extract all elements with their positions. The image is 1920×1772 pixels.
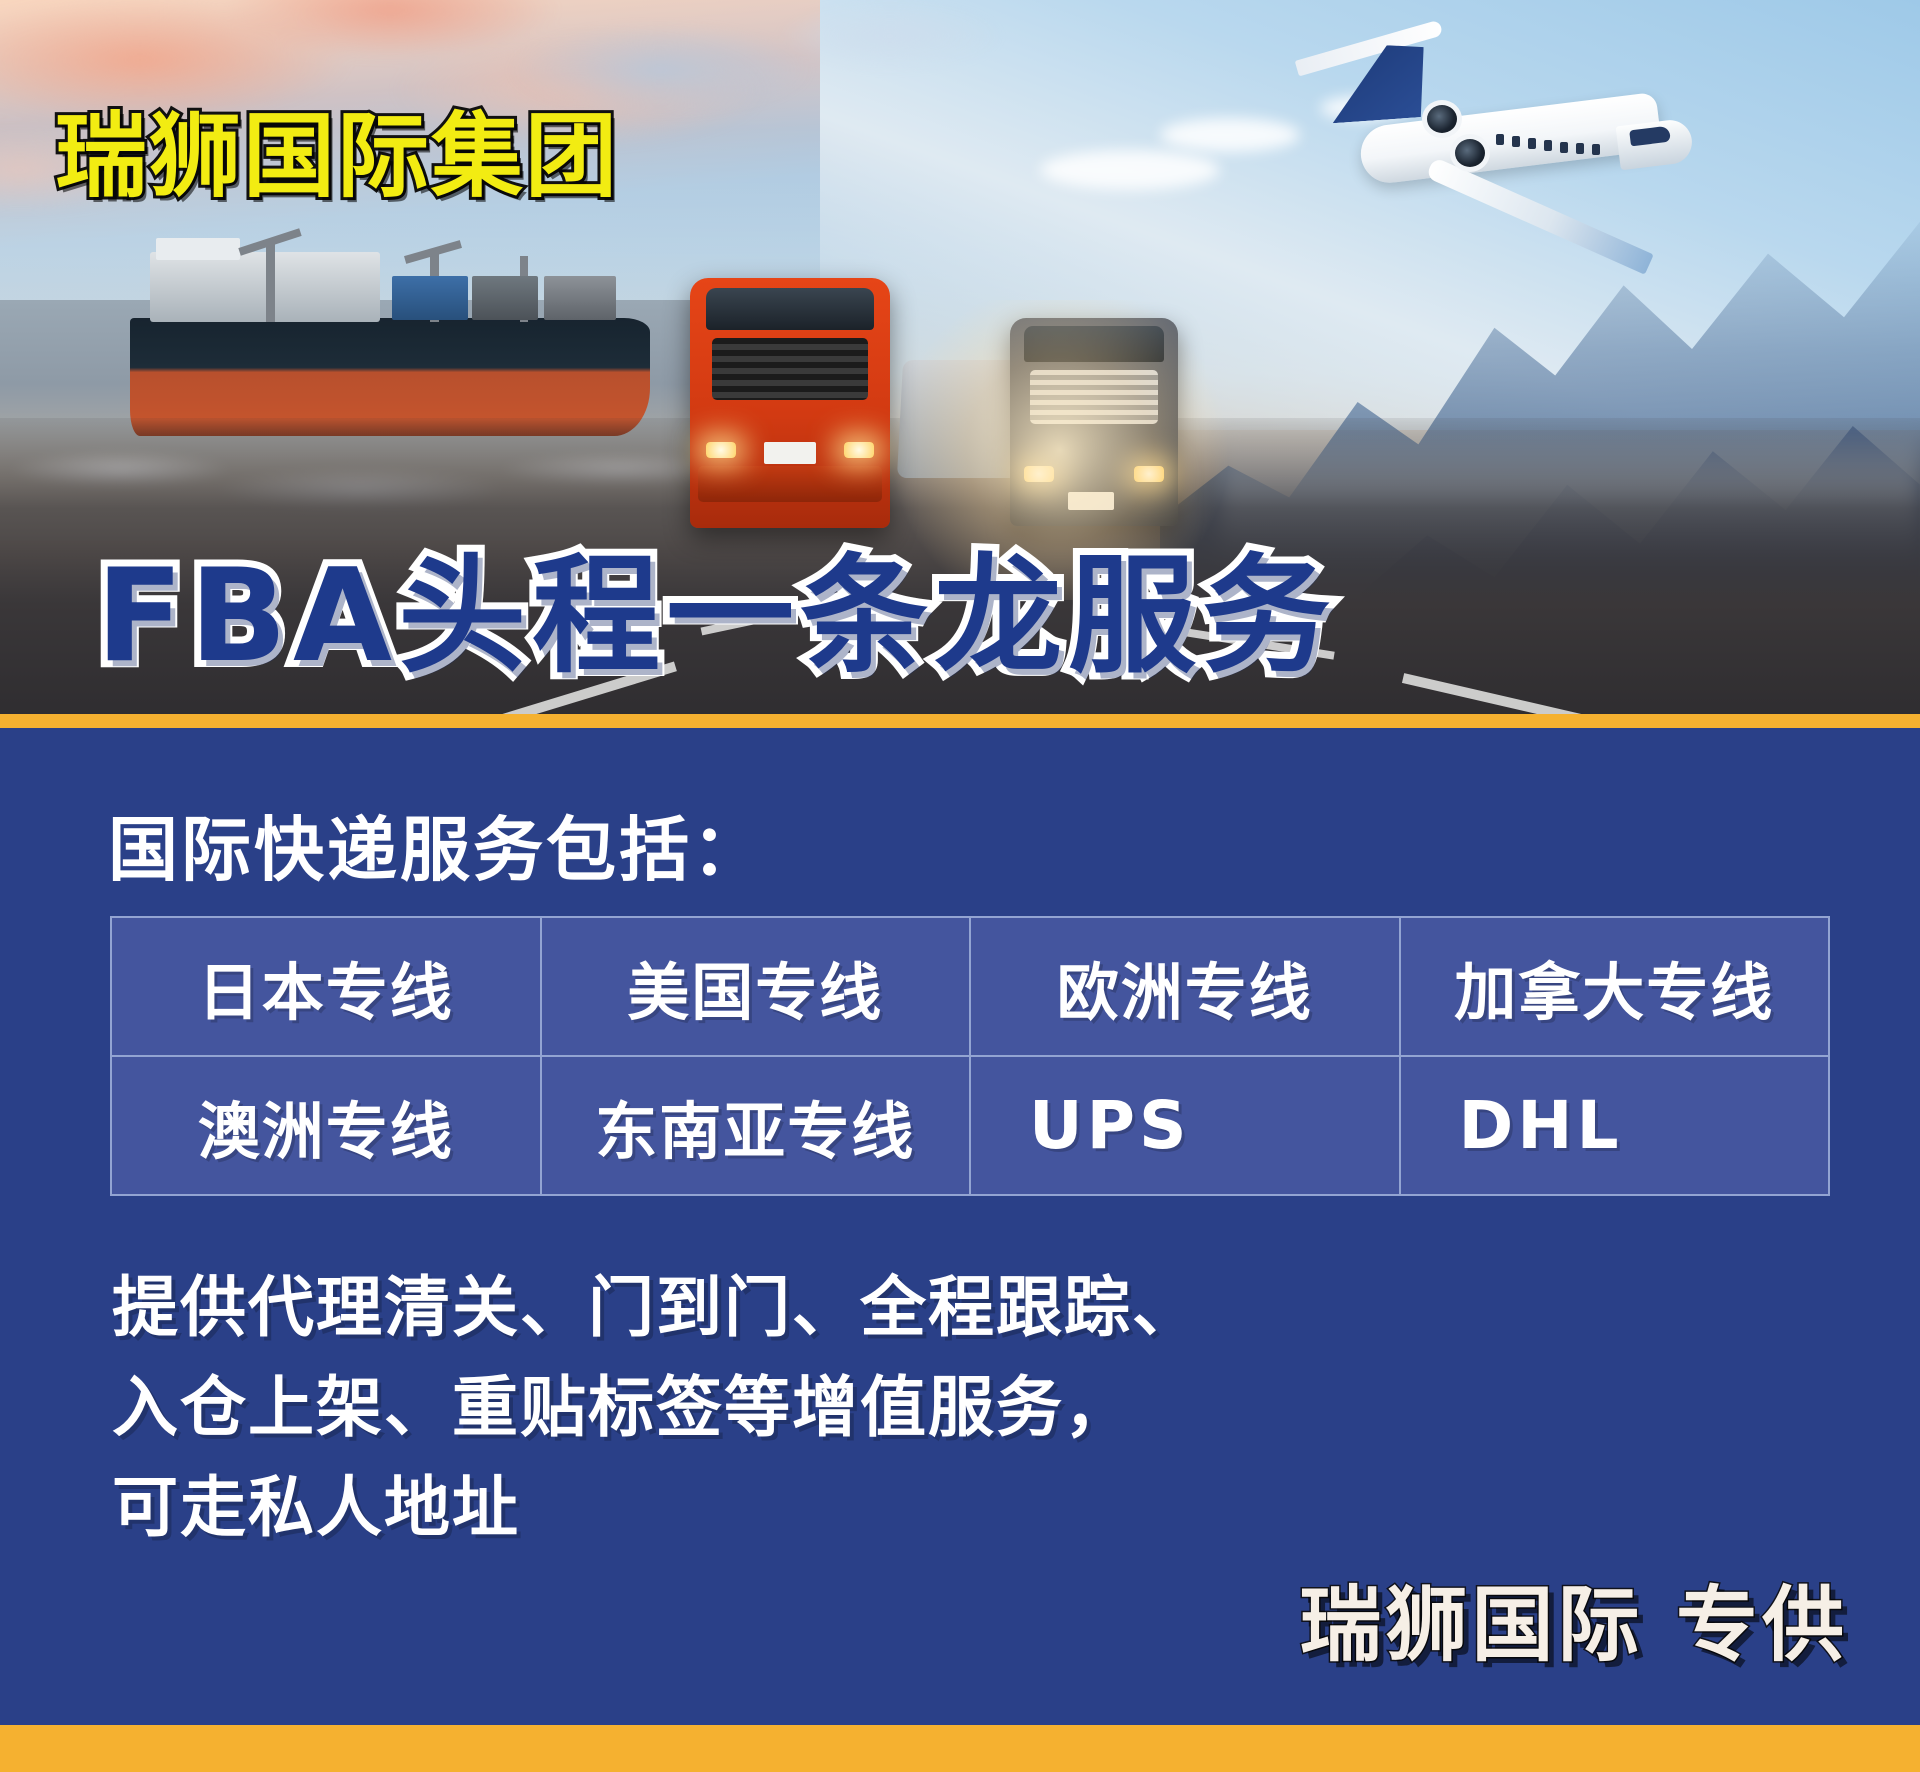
- service-cell-ca[interactable]: 加拿大专线: [1400, 917, 1830, 1056]
- grey-truck-icon: [1010, 318, 1178, 526]
- service-cell-eu[interactable]: 欧洲专线: [970, 917, 1400, 1056]
- service-cell-sea[interactable]: 东南亚专线: [541, 1056, 971, 1195]
- service-cell-dhl[interactable]: DHL: [1400, 1056, 1830, 1195]
- cloud-puff-icon: [1040, 150, 1220, 190]
- red-truck-icon: [690, 278, 890, 528]
- ship-container: [392, 276, 468, 320]
- plane-window: [1560, 142, 1568, 153]
- truck-headlight-icon: [706, 442, 736, 458]
- cloud-puff-icon: [1160, 118, 1300, 152]
- ship-container: [472, 276, 538, 320]
- ship-deck: [150, 252, 380, 322]
- plane-engine: [1422, 100, 1462, 138]
- truck-license-plate: [764, 442, 816, 464]
- truck-windshield: [706, 288, 874, 330]
- service-cell-us[interactable]: 美国专线: [541, 917, 971, 1056]
- ship-crane-icon: [266, 240, 275, 322]
- description-line-1: 提供代理清关、门到门、全程跟踪、: [112, 1258, 1200, 1358]
- truck-windshield: [1024, 326, 1164, 362]
- truck-bumper: [698, 466, 882, 502]
- poster-root: 瑞狮国际集团 FBA头程一条龙服务 国际快递服务包括： 日本专线 美国专线 欧洲…: [0, 0, 1920, 1772]
- service-description: 提供代理清关、门到门、全程跟踪、 入仓上架、重贴标签等增值服务， 可走私人地址: [112, 1258, 1200, 1558]
- panel-title: 国际快递服务包括：: [108, 794, 765, 895]
- brand-signature: 瑞狮国际 专供: [1299, 1558, 1848, 1677]
- truck-license-plate: [1068, 492, 1114, 510]
- plane-engine: [1450, 134, 1490, 172]
- plane-window: [1544, 140, 1552, 151]
- description-line-3: 可走私人地址: [112, 1458, 1200, 1558]
- plane-window: [1512, 136, 1520, 147]
- plane-window: [1496, 134, 1504, 145]
- truck-headlight-icon: [1134, 466, 1164, 482]
- info-panel: 国际快递服务包括： 日本专线 美国专线 欧洲专线 加拿大专线 澳洲专线 东南亚专…: [0, 728, 1920, 1725]
- description-line-2: 入仓上架、重贴标签等增值服务，: [112, 1358, 1200, 1458]
- table-row: 澳洲专线 东南亚专线 UPS DHL: [111, 1056, 1829, 1195]
- ship-bridge: [156, 238, 240, 260]
- truck-headlight-icon: [1024, 466, 1054, 482]
- hero-headline: FBA头程一条龙服务: [96, 512, 1336, 697]
- plane-nose: [1616, 118, 1695, 171]
- plane-window: [1528, 138, 1536, 149]
- service-cell-ups[interactable]: UPS: [970, 1056, 1400, 1195]
- table-row: 日本专线 美国专线 欧洲专线 加拿大专线: [111, 917, 1829, 1056]
- truck-headlight-icon: [844, 442, 874, 458]
- truck-grille: [712, 338, 868, 400]
- service-cell-au[interactable]: 澳洲专线: [111, 1056, 541, 1195]
- company-logo-text: 瑞狮国际集团: [55, 82, 619, 215]
- footer-accent-bar: [0, 1725, 1920, 1772]
- ship-container: [544, 276, 616, 320]
- airplane-icon: [1300, 30, 1720, 250]
- services-table: 日本专线 美国专线 欧洲专线 加拿大专线 澳洲专线 东南亚专线 UPS DHL: [110, 916, 1830, 1196]
- gold-divider: [0, 714, 1920, 728]
- truck-grille: [1030, 370, 1158, 424]
- hero-photo: 瑞狮国际集团 FBA头程一条龙服务: [0, 0, 1920, 718]
- plane-window: [1592, 144, 1600, 155]
- service-cell-jp[interactable]: 日本专线: [111, 917, 541, 1056]
- plane-window: [1576, 143, 1584, 154]
